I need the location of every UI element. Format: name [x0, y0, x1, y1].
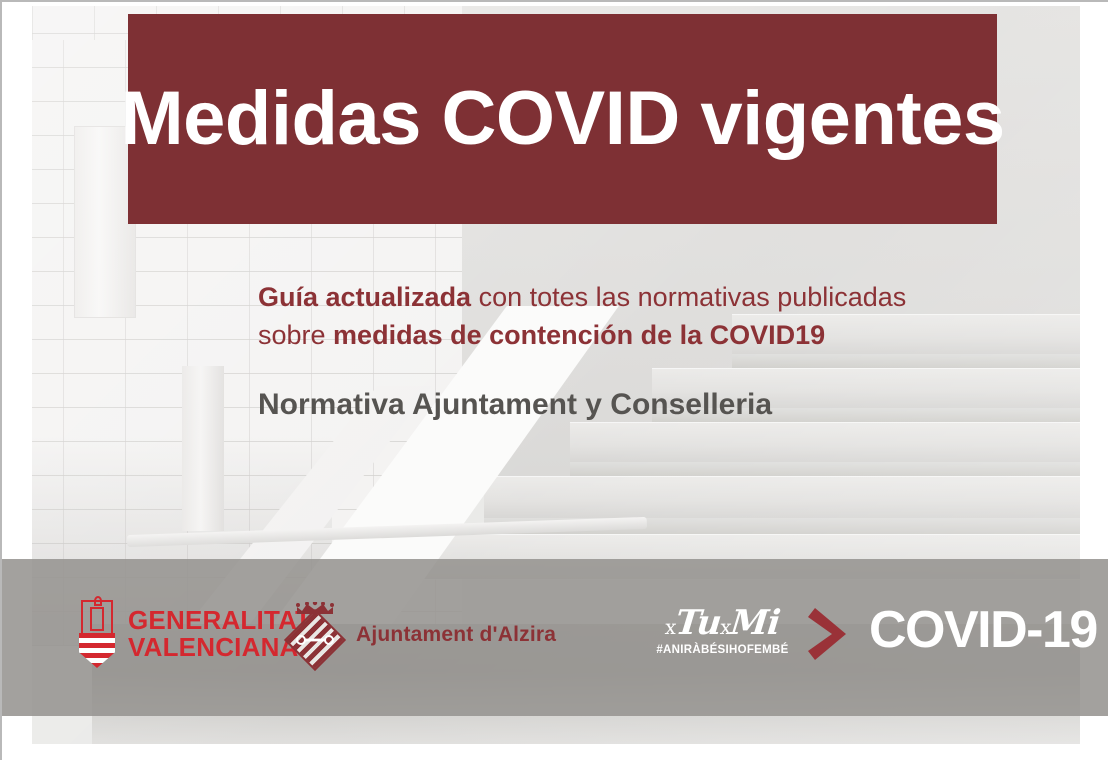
generalitat-wordmark: GENERALITAT VALENCIANA [128, 607, 311, 660]
alzira-crest-icon [287, 602, 343, 668]
poster-canvas: Medidas COVID vigentes Guía actualizada … [0, 0, 1108, 760]
chevron-right-icon [808, 606, 854, 662]
xtuxmi-hashtag: #ANIRÀBÉSIHOFEMBÉ [650, 644, 795, 656]
lede-bold-lead: Guía actualizada [258, 282, 471, 312]
page-title: Medidas COVID vigentes [120, 81, 1004, 157]
generalitat-line-1: GENERALITAT [128, 607, 311, 634]
xtuxmi-mi: Mi [729, 603, 782, 643]
xtuxmi-script-wordmark: xTuxMi [648, 606, 797, 640]
lede-bold-tail: medidas de contención de la COVID19 [333, 320, 825, 350]
alzira-key-icon [296, 635, 334, 645]
title-banner: Medidas COVID vigentes [128, 14, 997, 224]
generalitat-crest-icon [78, 600, 116, 668]
logo-ajuntament-alzira: Ajuntament d'Alzira [287, 602, 556, 668]
covid19-wordmark: COVID-19 [869, 602, 1097, 659]
generalitat-line-2: VALENCIANA [128, 634, 311, 661]
generalitat-bat-crest-icon [81, 600, 113, 634]
alzira-wordmark: Ajuntament d'Alzira [356, 623, 556, 647]
generalitat-senyera-bars-icon [79, 633, 115, 668]
lede-paragraph: Guía actualizada con totes las normativa… [258, 278, 918, 355]
subtitle: Normativa Ajuntament y Conselleria [258, 388, 772, 422]
xtuxmi-tu: Tu [674, 603, 723, 643]
logo-generalitat-valenciana: GENERALITAT VALENCIANA [78, 600, 311, 668]
logo-xtuxmi-campaign: xTuxMi #ANIRÀBÉSIHOFEMBÉ [650, 606, 795, 656]
